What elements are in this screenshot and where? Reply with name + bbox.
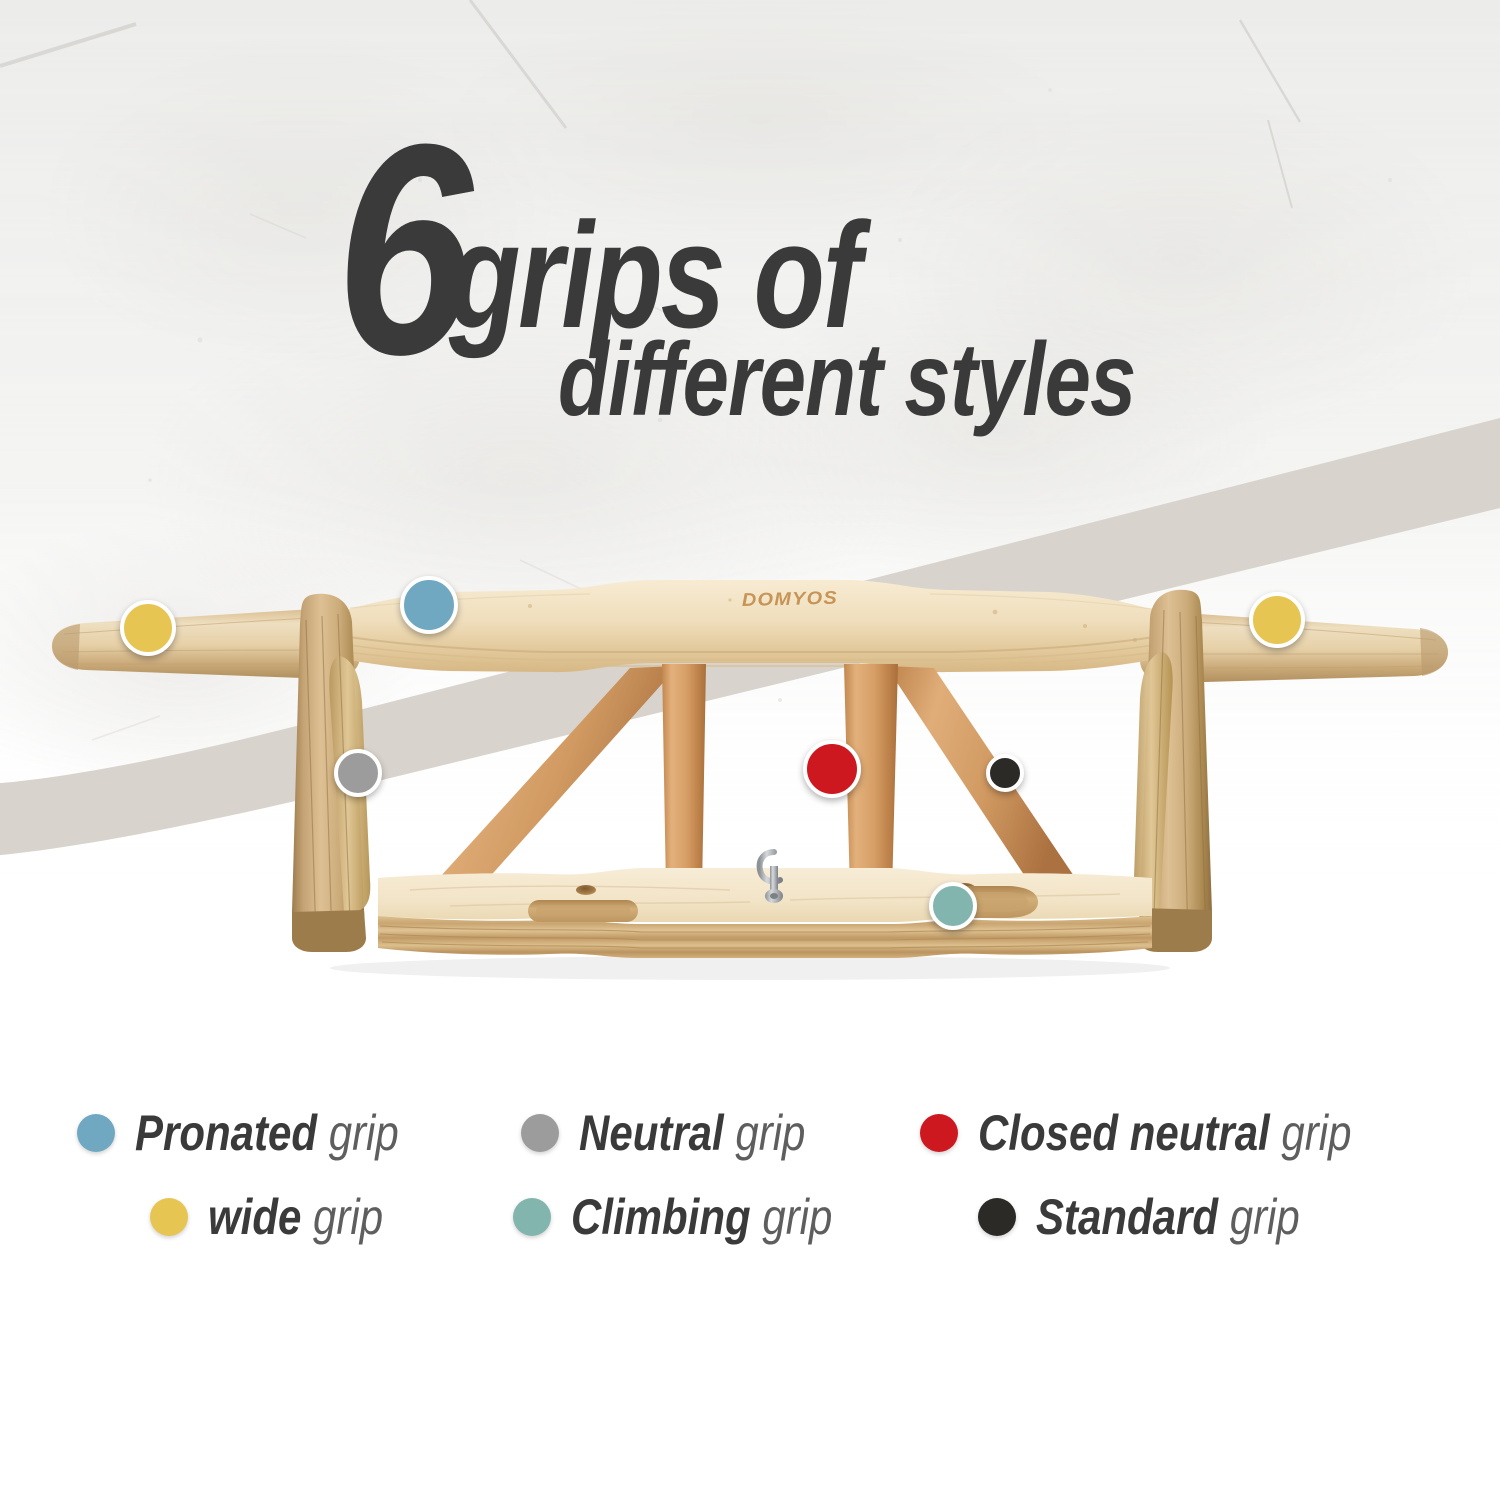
- legend-dot-standard: [978, 1198, 1016, 1236]
- legend-item-neutral[interactable]: Neutral grip: [521, 1108, 849, 1158]
- legend-item-climbing[interactable]: Climbing grip: [513, 1192, 882, 1242]
- legend-row-2: wide grip Climbing grip Standard grip: [0, 1192, 1500, 1242]
- marker-pronated[interactable]: [400, 576, 458, 634]
- legend-dot-climbing: [513, 1198, 551, 1236]
- headline-line-2: different styles: [558, 328, 1136, 432]
- legend-label-climbing: Climbing grip: [571, 1192, 832, 1242]
- legend-label-wide: wide grip: [208, 1192, 383, 1242]
- legend-row-1: Pronated grip Neutral grip Closed neutra…: [0, 1108, 1500, 1158]
- headline-block: 6 grips of different styles: [0, 132, 1500, 432]
- legend-dot-wide: [150, 1198, 188, 1236]
- marker-wide-right[interactable]: [1249, 592, 1305, 648]
- legend-label-pronated: Pronated grip: [135, 1108, 399, 1158]
- legend-item-pronated[interactable]: Pronated grip: [77, 1108, 449, 1158]
- headline-number: 6: [336, 132, 465, 366]
- mounting-hole-left: [576, 885, 596, 895]
- marker-neutral[interactable]: [334, 749, 382, 797]
- legend-item-wide[interactable]: wide grip: [150, 1192, 416, 1242]
- marker-standard[interactable]: [986, 754, 1024, 792]
- legend-item-closed-neutral[interactable]: Closed neutral grip: [920, 1108, 1423, 1158]
- infographic-canvas: 6 grips of different styles: [0, 0, 1500, 1500]
- legend-label-standard: Standard grip: [1036, 1192, 1300, 1242]
- legend-item-standard[interactable]: Standard grip: [978, 1192, 1350, 1242]
- marker-closed-neutral[interactable]: [803, 740, 861, 798]
- marker-climbing[interactable]: [929, 882, 977, 930]
- brand-logo: DOMYOS: [742, 588, 839, 610]
- marker-wide-left[interactable]: [120, 600, 176, 656]
- legend-dot-neutral: [521, 1114, 559, 1152]
- legend-dot-pronated: [77, 1114, 115, 1152]
- legend-label-closed-neutral: Closed neutral grip: [978, 1108, 1351, 1158]
- legend: Pronated grip Neutral grip Closed neutra…: [0, 1108, 1500, 1242]
- legend-label-neutral: Neutral grip: [579, 1108, 805, 1158]
- legend-dot-closed-neutral: [920, 1114, 958, 1152]
